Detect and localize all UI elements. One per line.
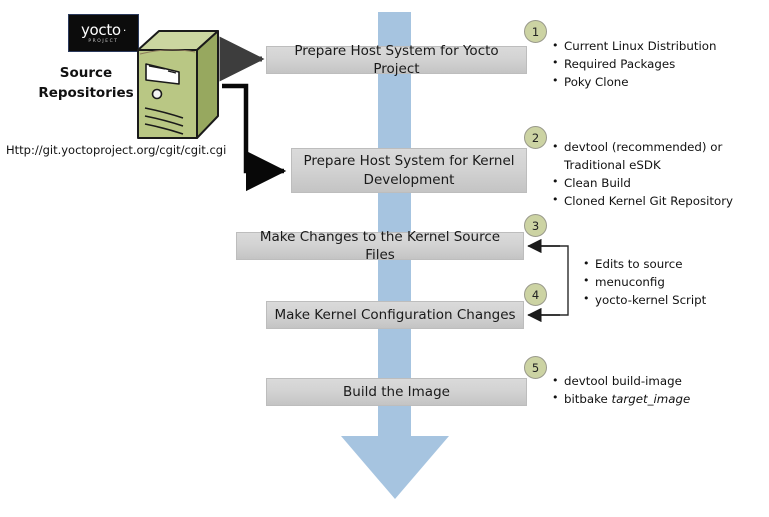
source-label-line1: Source xyxy=(26,64,146,84)
logo-wordmark: yocto xyxy=(81,21,121,39)
step-badge-5: 5 xyxy=(524,356,547,379)
yocto-project-logo: yocto· PROJECT xyxy=(68,14,139,52)
diagram-canvas: yocto· PROJECT Source Repositories Http:… xyxy=(0,0,769,517)
bullet-item: Required Packages xyxy=(552,56,716,74)
source-repository-url: Http://git.yoctoproject.org/cgit/cgit.cg… xyxy=(6,143,226,157)
step-2-bullets: devtool (recommended) or Traditional eSD… xyxy=(552,139,733,211)
bullet-item: Current Linux Distribution xyxy=(552,38,716,56)
bullet-item: Poky Clone xyxy=(552,74,716,92)
arrow-server-to-step2 xyxy=(222,86,284,171)
bullet-command-arg: target_image xyxy=(612,392,691,406)
bullet-item: Clean Build xyxy=(552,175,733,193)
step-box-2[interactable]: Prepare Host System for Kernel Developme… xyxy=(291,148,527,193)
bullet-item: yocto-kernel Script xyxy=(583,292,706,310)
bullet-command-prefix: bitbake xyxy=(564,392,612,406)
step-box-3[interactable]: Make Changes to the Kernel Source Files xyxy=(236,232,524,260)
step-badge-4: 4 xyxy=(524,283,547,306)
step-box-5[interactable]: Build the Image xyxy=(266,378,527,406)
bullet-item: devtool (recommended) or Traditional eSD… xyxy=(552,139,732,175)
logo-subtext: PROJECT xyxy=(88,40,118,44)
step-badge-1: 1 xyxy=(524,20,547,43)
bullet-item: bitbake target_image xyxy=(552,391,690,409)
bullet-item: Cloned Kernel Git Repository xyxy=(552,193,733,211)
steps-3-4-shared-bullets: Edits to source menuconfig yocto-kernel … xyxy=(583,256,706,310)
bullet-item: Edits to source xyxy=(583,256,706,274)
flow-arrow-head xyxy=(341,436,449,499)
step-5-bullets: devtool build-image bitbake target_image xyxy=(552,373,690,409)
source-repositories-label: Source Repositories xyxy=(26,64,146,103)
step-box-4[interactable]: Make Kernel Configuration Changes xyxy=(266,301,524,329)
logo-dot-icon: · xyxy=(123,24,126,37)
step-badge-3: 3 xyxy=(524,214,547,237)
bullet-item: devtool build-image xyxy=(552,373,690,391)
bullet-item: menuconfig xyxy=(583,274,706,292)
step-box-1[interactable]: Prepare Host System for Yocto Project xyxy=(266,46,527,74)
step-badge-2: 2 xyxy=(524,126,547,149)
source-label-line2: Repositories xyxy=(26,84,146,104)
server-tower-icon xyxy=(135,28,221,141)
step-1-bullets: Current Linux Distribution Required Pack… xyxy=(552,38,716,92)
